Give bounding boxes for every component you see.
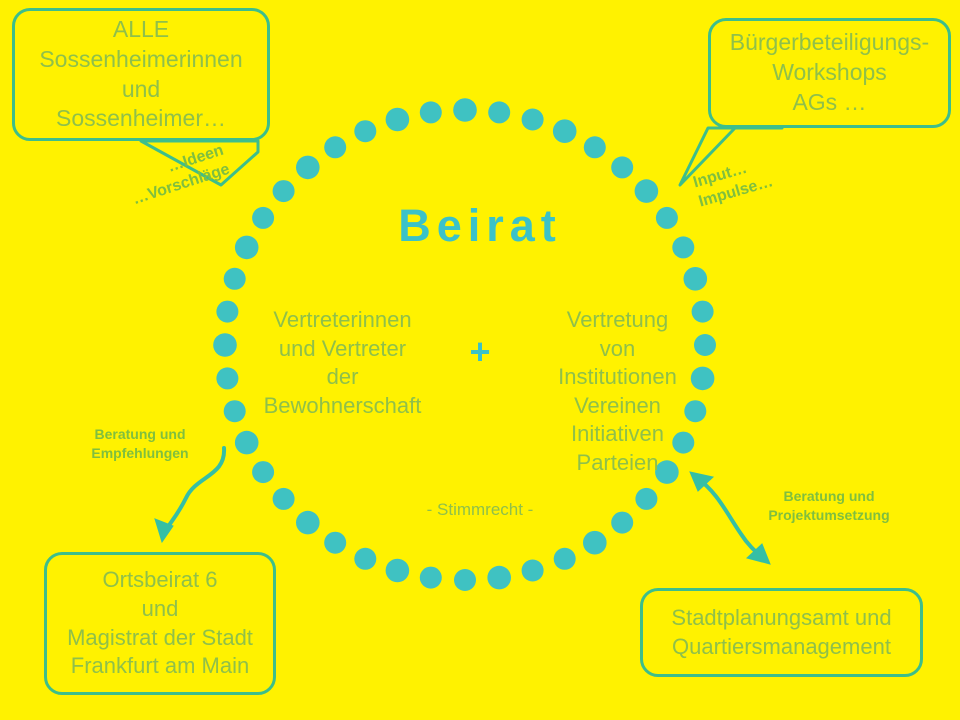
arrow-label-beratung-empfehlungen: Beratung und Empfehlungen [70,425,210,463]
ring-dot [224,400,246,422]
ring-dot [420,567,442,589]
ring-dot [554,548,576,570]
center-right-line-2: von [525,335,710,364]
callout-workshops[interactable]: Bürgerbeteiligungs- Workshops AGs … [708,18,951,128]
ring-dot [216,367,238,389]
center-left-line-3: der [250,363,435,392]
diagram-canvas: ALLE Sossenheimerinnen und Sossenheimer…… [0,0,960,720]
ring-dot [224,268,246,290]
box-stadtplanung-line-1: Stadtplanungsamt und [643,604,920,633]
arrowhead-projektumsetzung-down [747,544,770,564]
ring-dot [522,560,544,582]
center-right-line-1: Vertretung [525,306,710,335]
box-ortsbeirat-line-2: und [47,595,273,624]
ring-dot [584,136,606,158]
ring-dot [487,566,511,590]
arrow-label-be-line-1: Beratung und [70,425,210,444]
arrow-label-bp-line-1: Beratung und [744,487,914,506]
ring-dot [611,156,633,178]
ring-dot [273,180,295,202]
ring-dot [454,569,476,591]
center-column-right: Vertretung von Institutionen Vereinen In… [525,306,710,478]
ring-dot [453,98,477,122]
callout-workshops-line-3: AGs … [711,88,948,118]
callout-citizens-line-3: und [15,75,267,105]
arrowhead-beratung-empfehlungen [155,519,173,542]
ring-dot [324,136,346,158]
center-right-line-5: Initiativen [525,420,710,449]
arrow-label-be-line-2: Empfehlungen [70,444,210,463]
callout-citizens-line-4: Sossenheimer… [15,104,267,134]
center-right-line-3: Institutionen [525,363,710,392]
ring-dot [583,531,607,555]
ring-dot [354,120,376,142]
arrow-label-beratung-projektumsetzung: Beratung und Projektumsetzung [744,487,914,525]
box-stadtplanung-line-2: Quartiersmanagement [643,633,920,662]
center-title-beirat: Beirat [0,200,960,252]
ring-dot [216,301,238,323]
box-stadtplanungsamt[interactable]: Stadtplanungsamt und Quartiersmanagement [640,588,923,677]
center-left-line-4: Bewohnerschaft [250,392,435,421]
ring-dot [522,109,544,131]
arrow-label-bp-line-2: Projektumsetzung [744,506,914,525]
box-ortsbeirat[interactable]: Ortsbeirat 6 und Magistrat der Stadt Fra… [44,552,276,695]
center-right-line-4: Vereinen [525,392,710,421]
callout-workshops-line-1: Bürgerbeteiligungs- [711,28,948,58]
ring-dot [324,532,346,554]
box-ortsbeirat-line-1: Ortsbeirat 6 [47,566,273,595]
ring-dot [386,559,410,583]
ring-dot [420,101,442,123]
ring-dot [296,156,320,180]
ring-dot [553,119,577,143]
center-left-line-2: und Vertreter [250,335,435,364]
callout-citizens-line-2: Sossenheimerinnen [15,45,267,75]
center-column-left: Vertreterinnen und Vertreter der Bewohne… [250,306,435,420]
ring-dot [386,108,410,132]
center-left-line-1: Vertreterinnen [250,306,435,335]
plus-icon: + [460,334,500,370]
ring-dot [213,333,237,357]
ring-dot [684,267,708,291]
ring-dot [488,101,510,123]
center-right-line-6: Parteien [525,449,710,478]
box-ortsbeirat-line-3: Magistrat der Stadt [47,624,273,653]
callout-citizens-line-1: ALLE [15,15,267,45]
box-ortsbeirat-line-4: Frankfurt am Main [47,652,273,681]
callout-citizens[interactable]: ALLE Sossenheimerinnen und Sossenheimer… [12,8,270,141]
center-columns: Vertreterinnen und Vertreter der Bewohne… [250,306,710,478]
flow-label-ideen: …Ideen …Vorschläge [124,141,232,209]
ring-dot [354,548,376,570]
callout-workshops-line-2: Workshops [711,58,948,88]
